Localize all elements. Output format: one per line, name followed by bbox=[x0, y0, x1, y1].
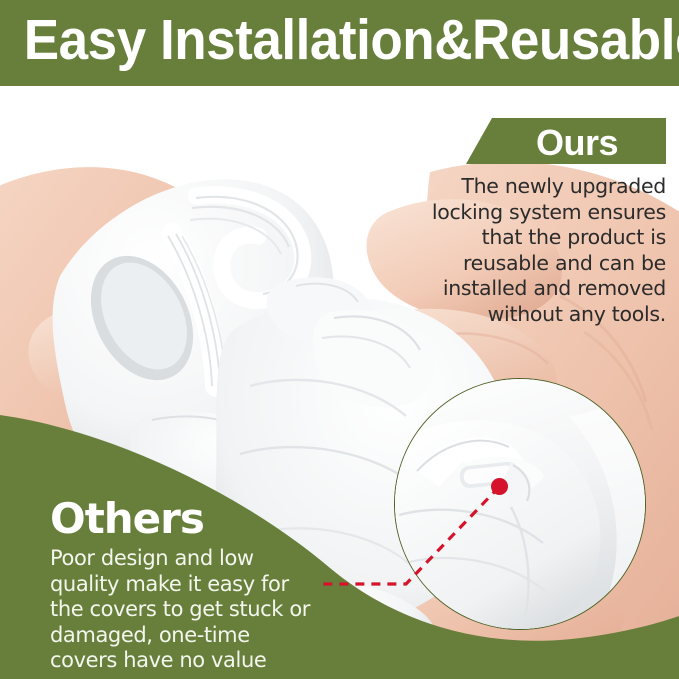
banner-title: Easy Installation&Reusable bbox=[24, 8, 655, 72]
ours-body-text: The newly upgraded locking system ensure… bbox=[404, 174, 666, 327]
locking-clip-closeup-illustration bbox=[394, 378, 645, 629]
others-heading: Others bbox=[50, 496, 350, 542]
product-infographic: Easy Installation&Reusable Ours The newl… bbox=[0, 0, 679, 679]
ours-badge: Ours bbox=[466, 118, 666, 168]
others-body-text: Poor design and low quality make it easy… bbox=[50, 546, 350, 674]
callout-dot-icon bbox=[491, 478, 508, 495]
magnified-detail-inset bbox=[394, 378, 646, 630]
header-banner: Easy Installation&Reusable bbox=[0, 0, 679, 86]
ours-badge-label: Ours bbox=[466, 118, 666, 168]
others-section: Others Poor design and low quality make … bbox=[50, 496, 350, 674]
ours-section: Ours The newly upgraded locking system e… bbox=[404, 118, 666, 327]
